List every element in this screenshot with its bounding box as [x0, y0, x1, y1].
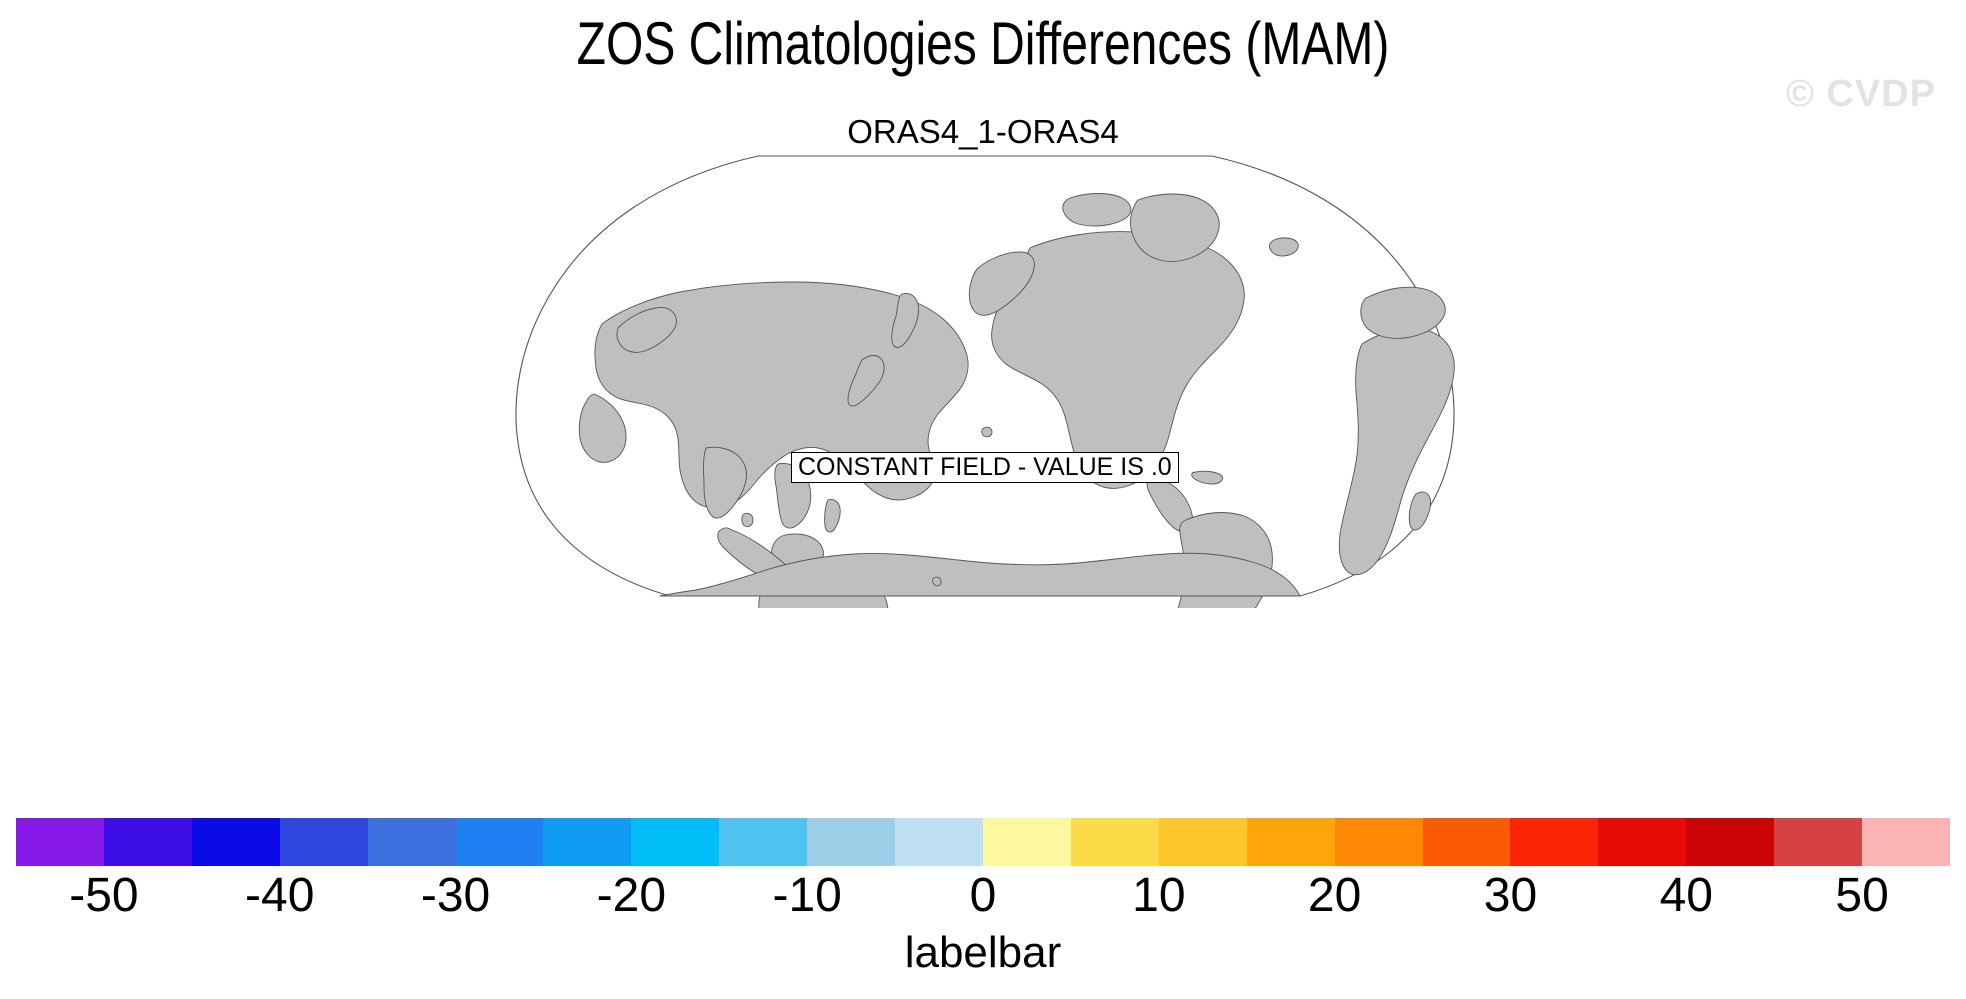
colorbar-cell-16 [1423, 818, 1511, 866]
constant-field-annotation: CONSTANT FIELD - VALUE IS .0 [791, 452, 1179, 483]
colorbar-cell-4 [368, 818, 456, 866]
colorbar-cell-15 [1335, 818, 1423, 866]
colorbar-cell-20 [1774, 818, 1862, 866]
colorbar-cell-3 [280, 818, 368, 866]
colorbar-cell-10 [895, 818, 983, 866]
colorbar: -50-40-30-20-1001020304050 labelbar [0, 818, 1966, 999]
colorbar-tick-8: 30 [1484, 870, 1537, 922]
colorbar-cell-21 [1862, 818, 1950, 866]
world-map-svg [510, 148, 1460, 608]
colorbar-cell-8 [719, 818, 807, 866]
colorbar-cell-14 [1247, 818, 1335, 866]
cvdp-watermark: © CVDP [1786, 72, 1936, 116]
colorbar-tick-10: 50 [1835, 870, 1888, 922]
colorbar-tick-labels: -50-40-30-20-1001020304050 [16, 866, 1950, 922]
colorbar-tick-6: 10 [1132, 870, 1185, 922]
colorbar-cell-7 [631, 818, 719, 866]
colorbar-tick-1: -40 [245, 870, 314, 922]
colorbar-tick-0: -50 [69, 870, 138, 922]
colorbar-tick-9: 40 [1660, 870, 1713, 922]
colorbar-cell-5 [456, 818, 544, 866]
colorbar-tick-4: -10 [772, 870, 841, 922]
land-island-sri-lanka [742, 513, 753, 526]
colorbar-cell-2 [192, 818, 280, 866]
land-island-hawaii [982, 427, 992, 437]
colorbar-cell-13 [1159, 818, 1247, 866]
colorbar-tick-7: 20 [1308, 870, 1361, 922]
land-arctic-islands [1063, 194, 1131, 227]
colorbar-cell-11 [983, 818, 1071, 866]
colorbar-cell-1 [104, 818, 192, 866]
colorbar-cell-0 [16, 818, 104, 866]
colorbar-cell-12 [1071, 818, 1159, 866]
colorbar-cell-19 [1686, 818, 1774, 866]
colorbar-cell-17 [1510, 818, 1598, 866]
panel-subtitle: ORAS4_1-ORAS4 [0, 112, 1966, 152]
land-island-fiji [933, 577, 941, 586]
page-title: ZOS Climatologies Differences (MAM) [197, 8, 1770, 80]
map-panel [510, 148, 1460, 608]
colorbar-cell-6 [543, 818, 631, 866]
colorbar-tick-3: -20 [597, 870, 666, 922]
colorbar-title: labelbar [0, 928, 1966, 978]
colorbar-cell-18 [1598, 818, 1686, 866]
colorbar-tick-5: 0 [970, 870, 997, 922]
constant-field-text: CONSTANT FIELD - VALUE IS .0 [798, 454, 1172, 481]
colorbar-tick-2: -30 [421, 870, 490, 922]
colorbar-strip [16, 818, 1950, 866]
colorbar-cell-9 [807, 818, 895, 866]
